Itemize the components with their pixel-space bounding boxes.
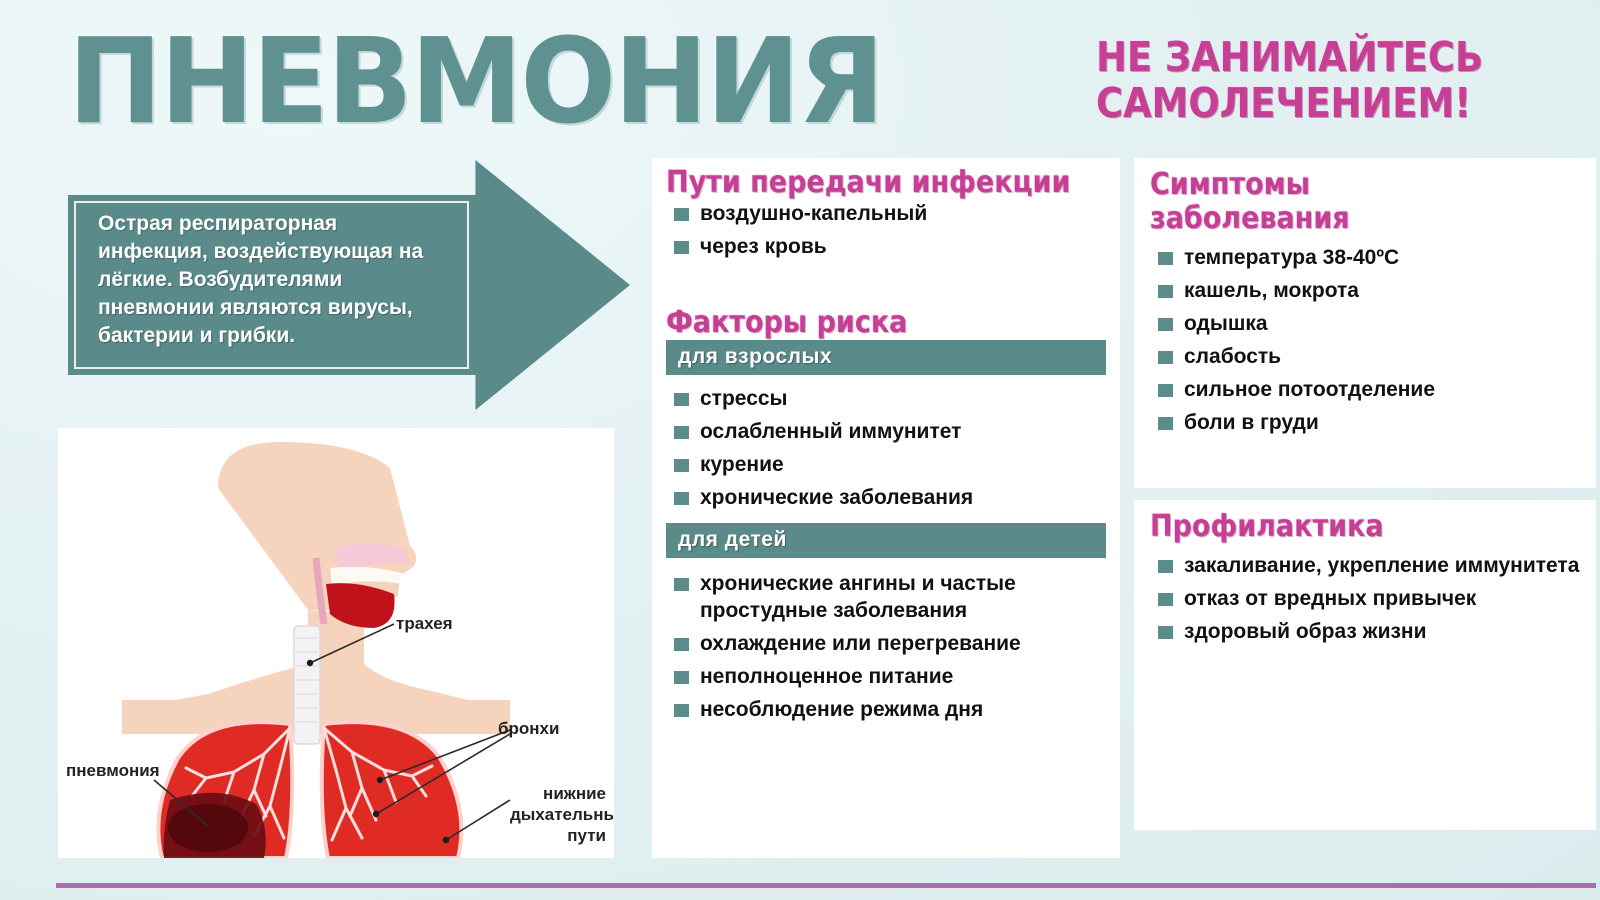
symptoms-list: температура 38-40ºС кашель, мокрота одыш…	[1150, 244, 1580, 436]
middle-column-panel: Пути передачи инфекции воздушно-капельны…	[652, 158, 1120, 858]
risk-children-bar: для детей	[666, 523, 1106, 558]
symptoms-heading-line-2: заболевания	[1150, 201, 1350, 236]
list-item: ослабленный иммунитет	[666, 418, 1106, 445]
prevention-list: закаливание, укрепление иммунитета отказ…	[1150, 552, 1580, 645]
list-item: одышка	[1150, 310, 1580, 337]
prevention-panel: Профилактика закаливание, укрепление имм…	[1134, 500, 1596, 830]
symptoms-panel: Симптомы заболевания температура 38-40ºС…	[1134, 158, 1596, 488]
symptoms-heading: Симптомы заболевания	[1150, 168, 1580, 236]
label-pneumonia: пневмония	[66, 760, 160, 781]
symptoms-section: Симптомы заболевания температура 38-40ºС…	[1150, 168, 1580, 442]
label-lower-airways: нижние дыхательные пути	[510, 783, 606, 846]
label-trachea: трахея	[396, 613, 453, 634]
list-item: здоровый образ жизни	[1150, 618, 1580, 645]
transmission-heading: Пути передачи инфекции	[666, 166, 1106, 200]
list-item: через кровь	[666, 233, 1106, 260]
list-item: температура 38-40ºС	[1150, 244, 1580, 271]
list-item: закаливание, укрепление иммунитета	[1150, 552, 1580, 579]
respiratory-anatomy-illustration: трахея бронхи пневмония нижние дыхательн…	[58, 428, 614, 858]
risk-adults-list: стрессы ослабленный иммунитет курение хр…	[666, 385, 1106, 511]
risk-factors-heading: Факторы риска	[666, 306, 1106, 340]
transmission-section: Пути передачи инфекции воздушно-капельны…	[666, 166, 1106, 266]
warning-line-2: САМОЛЕЧЕНИЕМ!	[1096, 80, 1596, 126]
list-item: слабость	[1150, 343, 1580, 370]
warning-line-1: НЕ ЗАНИМАЙТЕСЬ	[1096, 34, 1596, 80]
page-title: ПНЕВМОНИЯ	[68, 22, 883, 140]
list-item: боли в груди	[1150, 409, 1580, 436]
risk-factors-section: Факторы риска для взрослых стрессы ослаб…	[666, 306, 1106, 729]
symptoms-heading-line-1: Симптомы	[1150, 167, 1310, 202]
label-bronchi: бронхи	[498, 718, 559, 739]
transmission-list: воздушно-капельный через кровь	[666, 200, 1106, 260]
list-item: хронические заболевания	[666, 484, 1106, 511]
list-item: курение	[666, 451, 1106, 478]
list-item: кашель, мокрота	[1150, 277, 1580, 304]
list-item: воздушно-капельный	[666, 200, 1106, 227]
list-item: отказ от вредных привычек	[1150, 585, 1580, 612]
self-medication-warning: НЕ ЗАНИМАЙТЕСЬ САМОЛЕЧЕНИЕМ!	[1096, 34, 1596, 126]
pneumonia-poster: ПНЕВМОНИЯ НЕ ЗАНИМАЙТЕСЬ САМОЛЕЧЕНИЕМ! О…	[0, 0, 1600, 900]
risk-children-list: хронические ангины и частые простудные з…	[666, 570, 1106, 723]
list-item: неполноценное питание	[666, 663, 1106, 690]
prevention-heading: Профилактика	[1150, 510, 1580, 544]
prevention-section: Профилактика закаливание, укрепление имм…	[1150, 510, 1580, 651]
list-item: стрессы	[666, 385, 1106, 412]
risk-adults-bar: для взрослых	[666, 340, 1106, 375]
list-item: несоблюдение режима дня	[666, 696, 1106, 723]
bottom-divider	[56, 883, 1596, 888]
list-item: хронические ангины и частые простудные з…	[666, 570, 1106, 624]
list-item: сильное потоотделение	[1150, 376, 1580, 403]
list-item: охлаждение или перегревание	[666, 630, 1106, 657]
definition-text: Острая респираторная инфекция, воздейств…	[98, 210, 448, 350]
definition-arrow: Острая респираторная инфекция, воздейств…	[68, 160, 630, 410]
